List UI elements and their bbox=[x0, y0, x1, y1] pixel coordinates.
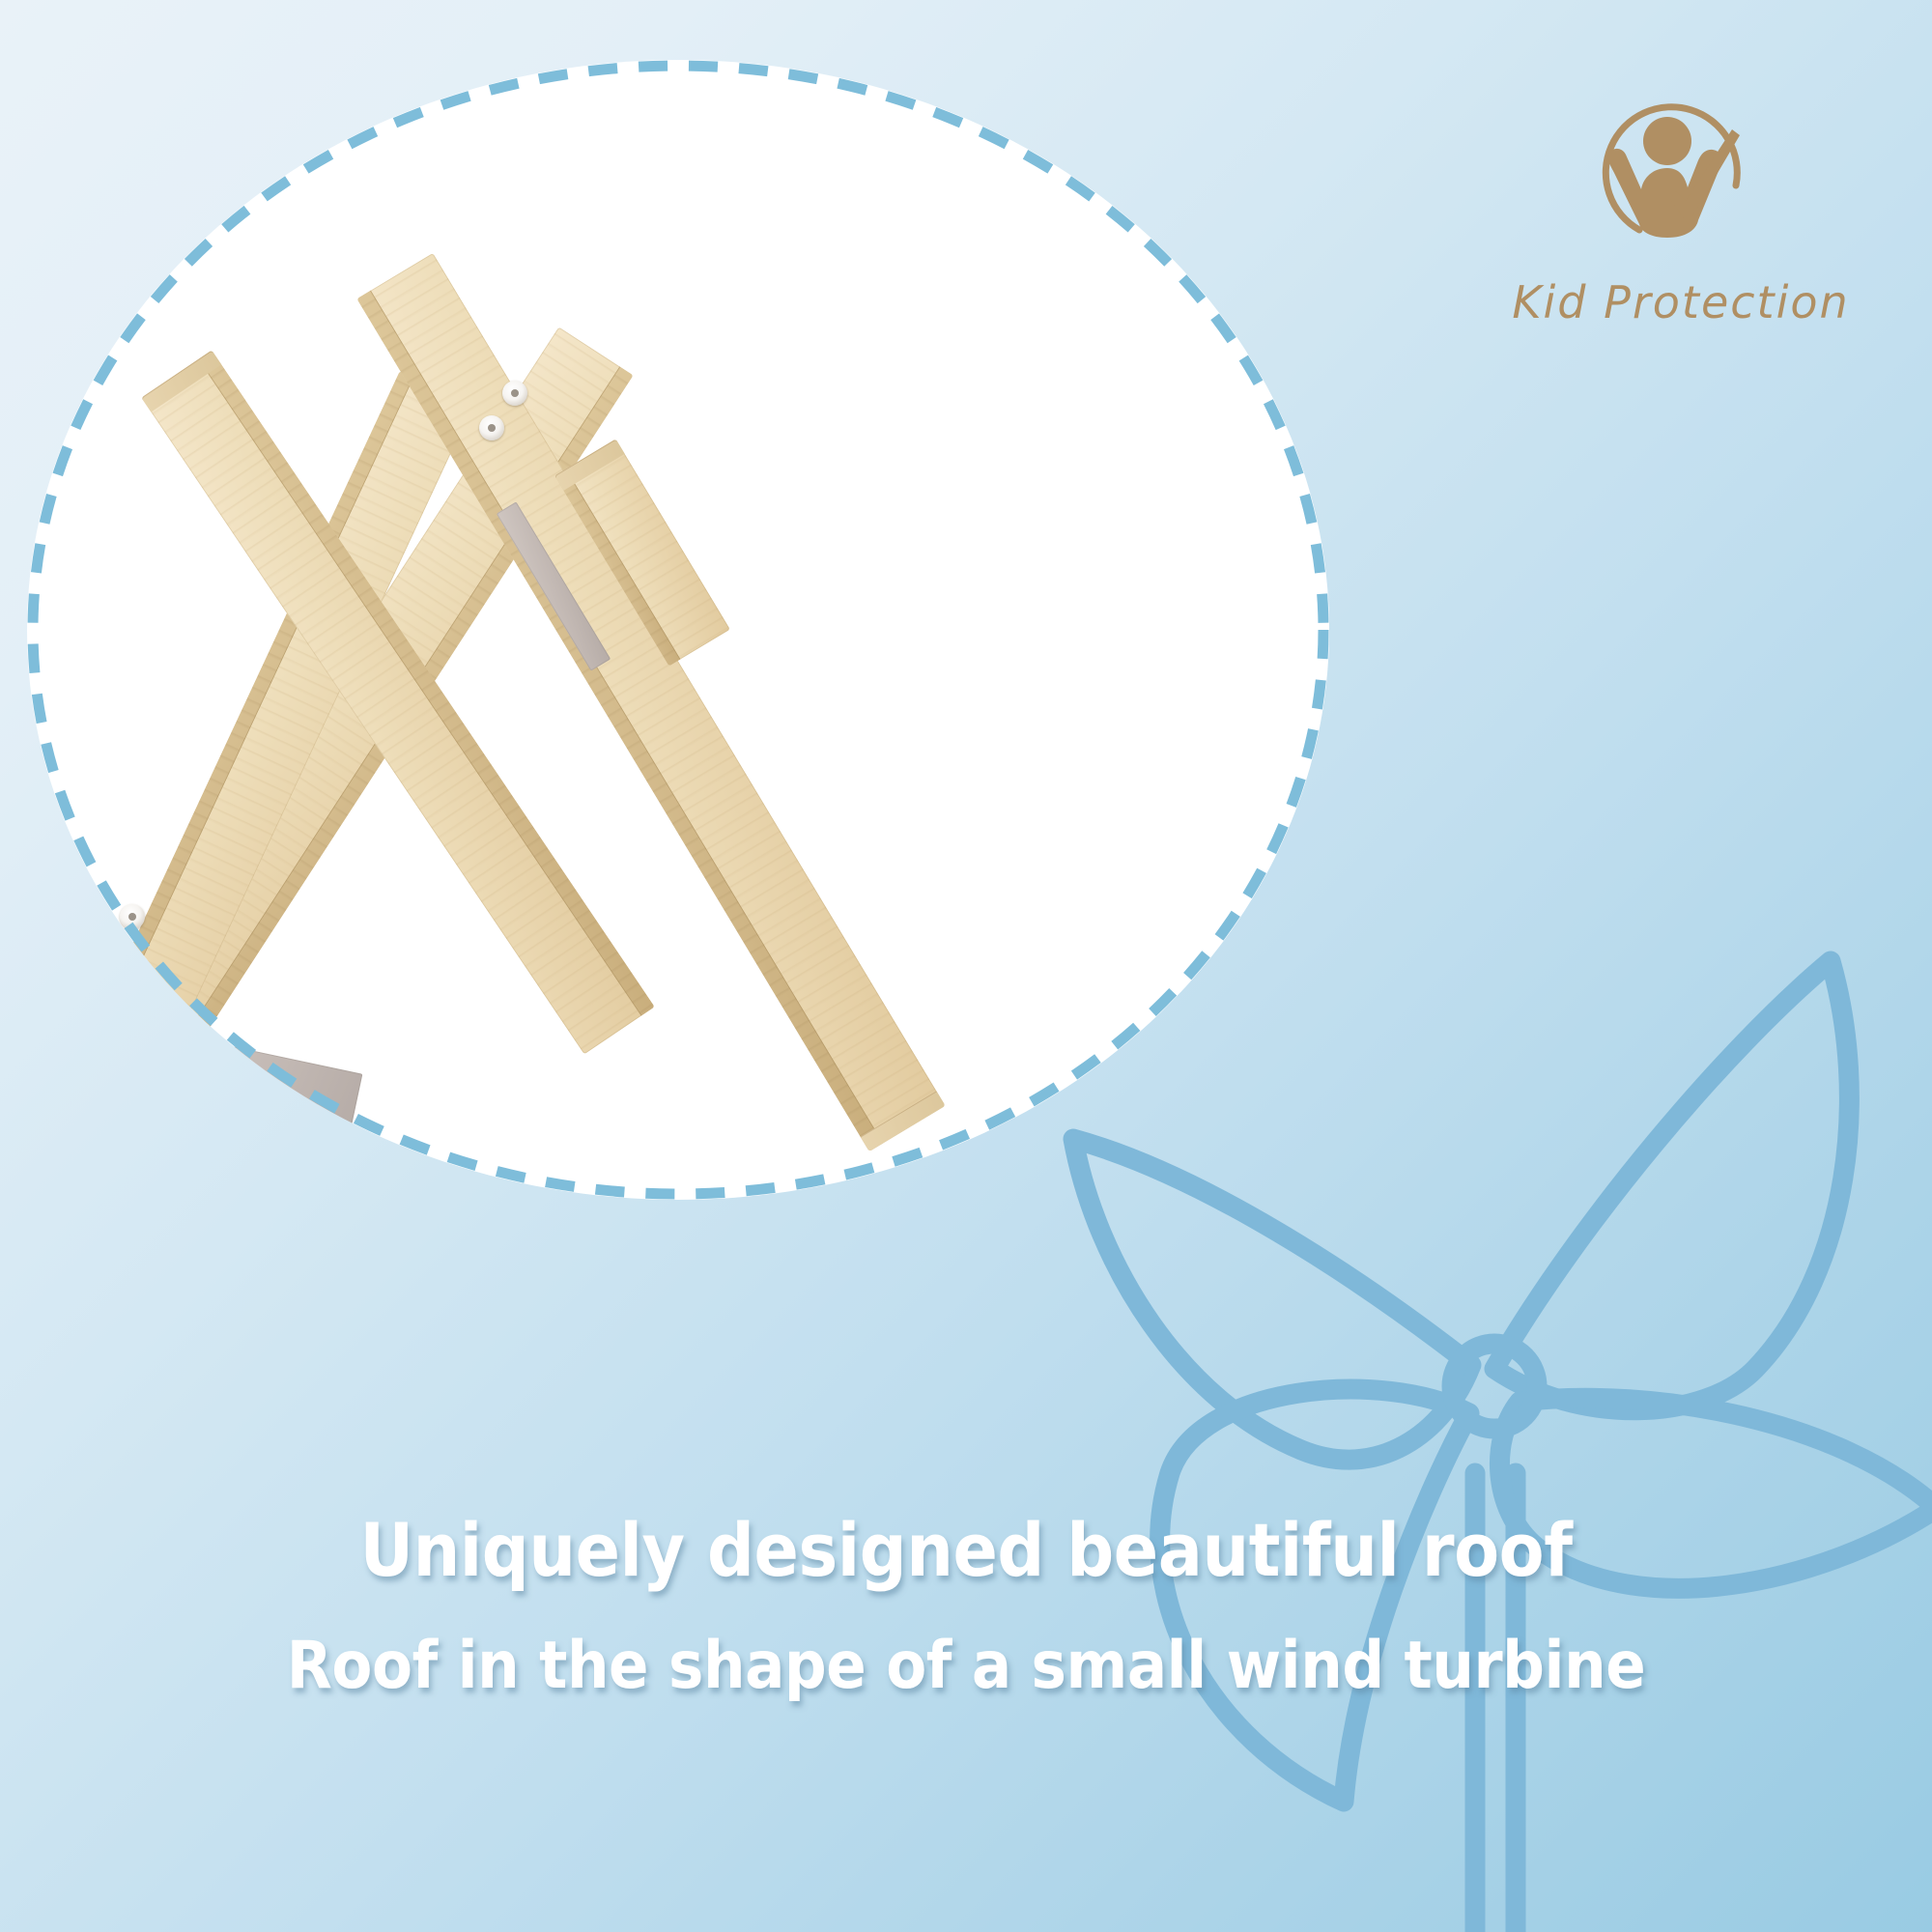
caption-primary: Uniquely designed beautiful roof bbox=[97, 1512, 1835, 1589]
caption-block: Uniquely designed beautiful roof Roof in… bbox=[0, 1512, 1932, 1700]
caption-secondary: Roof in the shape of a small wind turbin… bbox=[97, 1632, 1835, 1700]
brand-name: Kid Protection bbox=[1478, 276, 1884, 328]
wooden-a-frame-structure bbox=[27, 60, 1329, 1200]
photo-disc bbox=[27, 60, 1329, 1200]
child-with-raised-arms-in-circle-checkmark-icon bbox=[1570, 77, 1792, 270]
screw-cap-upper bbox=[502, 381, 527, 406]
screw-cap-base-upper bbox=[120, 904, 145, 929]
brand-badge: Kid Protection bbox=[1478, 77, 1884, 328]
screw-cap-lower bbox=[479, 415, 504, 440]
base-panel bbox=[156, 1034, 363, 1161]
banner-canvas: Kid Protection Uniquely designed beautif… bbox=[0, 0, 1932, 1932]
product-photo-window bbox=[27, 60, 1329, 1200]
screw-cap-base-lower bbox=[120, 960, 145, 985]
